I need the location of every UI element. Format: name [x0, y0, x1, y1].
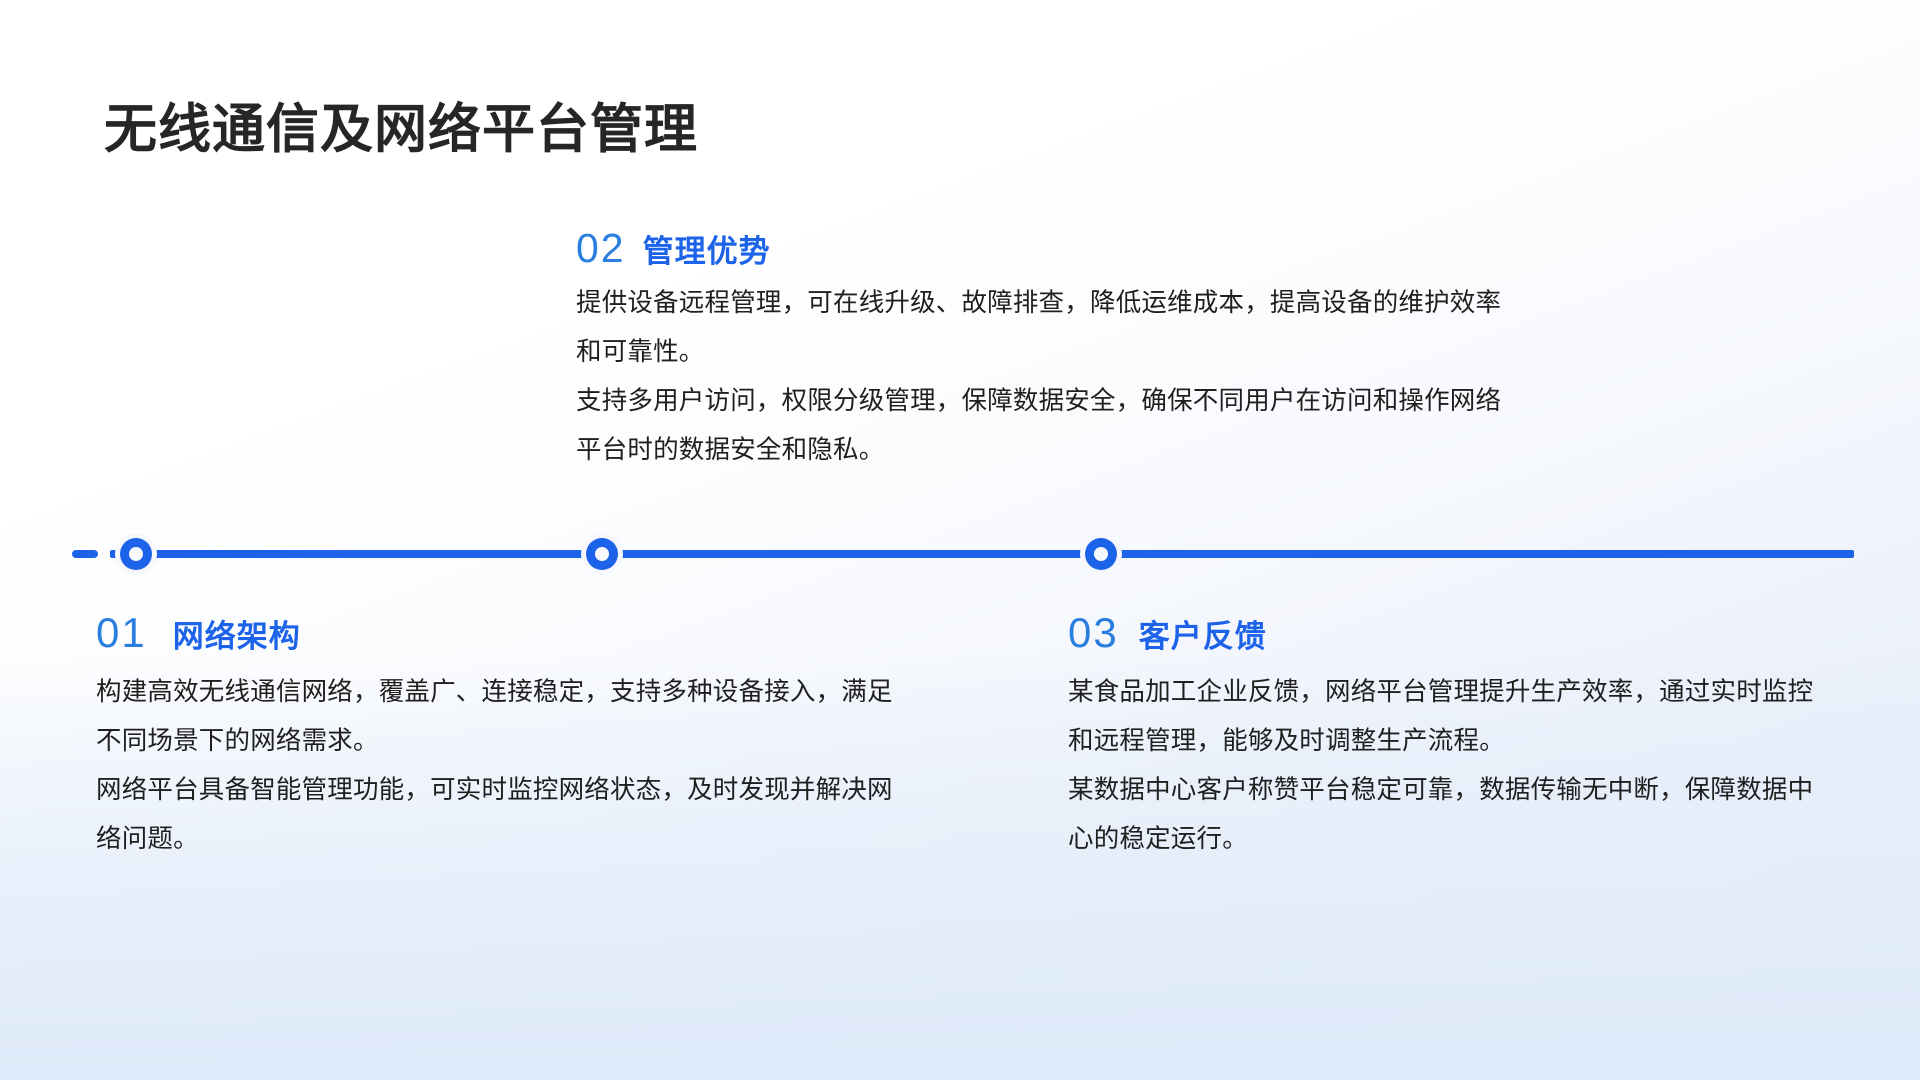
section-01-title: 网络架构	[173, 621, 301, 652]
slide-canvas: 无线通信及网络平台管理 02 管理优势 提供设备远程管理，可在线升级、故障排查，…	[0, 0, 1920, 1080]
section-02-paragraph-2: 支持多用户访问，权限分级管理，保障数据安全，确保不同用户在访问和操作网络平台时的…	[576, 377, 1506, 475]
timeline-node-inner-icon	[595, 547, 609, 561]
section-management-advantage: 02 管理优势 提供设备远程管理，可在线升级、故障排查，降低运维成本，提高设备的…	[576, 228, 1506, 475]
section-02-body: 提供设备远程管理，可在线升级、故障排查，降低运维成本，提高设备的维护效率和可靠性…	[576, 279, 1506, 475]
section-02-paragraph-1: 提供设备远程管理，可在线升级、故障排查，降低运维成本，提高设备的维护效率和可靠性…	[576, 279, 1506, 377]
timeline-node-01[interactable]	[120, 538, 152, 570]
section-03-number: 03	[1068, 612, 1119, 654]
section-03-paragraph-1: 某食品加工企业反馈，网络平台管理提升生产效率，通过实时监控和远程管理，能够及时调…	[1068, 668, 1828, 766]
section-01-paragraph-1: 构建高效无线通信网络，覆盖广、连接稳定，支持多种设备接入，满足不同场景下的网络需…	[96, 668, 916, 766]
timeline-node-03[interactable]	[1085, 538, 1117, 570]
section-02-heading: 02 管理优势	[576, 228, 1506, 269]
timeline-start-dash	[72, 550, 98, 558]
timeline-node-02[interactable]	[586, 538, 618, 570]
section-01-number: 01	[96, 612, 147, 654]
section-01-body: 构建高效无线通信网络，覆盖广、连接稳定，支持多种设备接入，满足不同场景下的网络需…	[96, 668, 916, 864]
page-title: 无线通信及网络平台管理	[104, 98, 698, 162]
timeline-bar	[110, 550, 1854, 558]
section-network-architecture: 01 网络架构 构建高效无线通信网络，覆盖广、连接稳定，支持多种设备接入，满足不…	[96, 612, 916, 864]
section-01-heading: 01 网络架构	[96, 612, 916, 654]
section-02-number: 02	[576, 228, 626, 269]
section-02-title: 管理优势	[643, 236, 771, 267]
section-03-title: 客户反馈	[1139, 621, 1267, 652]
section-01-paragraph-2: 网络平台具备智能管理功能，可实时监控网络状态，及时发现并解决网络问题。	[96, 766, 916, 864]
timeline-node-inner-icon	[129, 547, 143, 561]
section-customer-feedback: 03 客户反馈 某食品加工企业反馈，网络平台管理提升生产效率，通过实时监控和远程…	[1068, 612, 1828, 864]
timeline	[0, 534, 1920, 574]
section-03-body: 某食品加工企业反馈，网络平台管理提升生产效率，通过实时监控和远程管理，能够及时调…	[1068, 668, 1828, 864]
section-03-paragraph-2: 某数据中心客户称赞平台稳定可靠，数据传输无中断，保障数据中心的稳定运行。	[1068, 766, 1828, 864]
section-03-heading: 03 客户反馈	[1068, 612, 1828, 654]
timeline-node-inner-icon	[1094, 547, 1108, 561]
